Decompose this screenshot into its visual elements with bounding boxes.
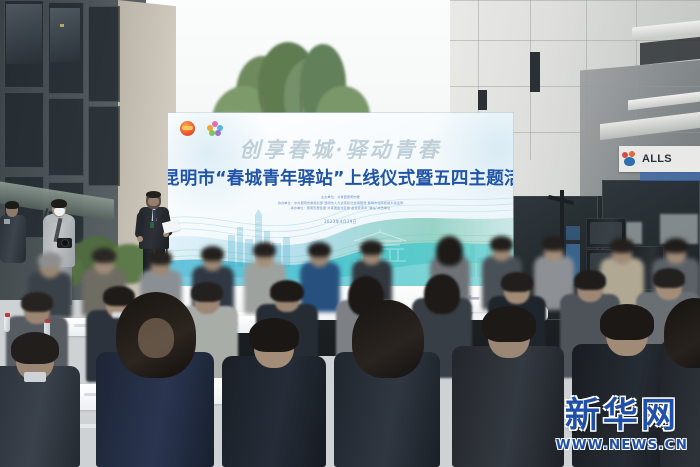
news-watermark: 新华网 WWW.NEWS.CN [556,399,688,453]
backdrop-date: 2023年4月29日 [168,219,513,225]
allsaints-bird-logo-icon [622,151,639,168]
backdrop-organizers: 主办单位：共青团昆明市委 协办单位：中共昆明市委组织部·昆明市人力资源和社会保障… [168,195,513,212]
store-sign-subtitle [640,172,700,181]
backdrop-headline: 昆明市“春城青年驿站”上线仪式暨五四主题活动 [168,165,513,190]
allsaints-store-sign: ALLS [619,146,700,172]
organizer-line-3: 承办单位：昆明安居集团·共青团盘龙区委·盘龙区青年“驿站”成员单位 [168,206,513,212]
watermark-url: WWW.NEWS.CN [556,437,688,453]
store-sign-text: ALLS [642,153,672,165]
photo-scene: ALLS [0,0,700,467]
watermark-brand: 新华网 [556,399,688,434]
backdrop-calligraphy-title: 创享春城·驿动青春 [168,134,513,164]
